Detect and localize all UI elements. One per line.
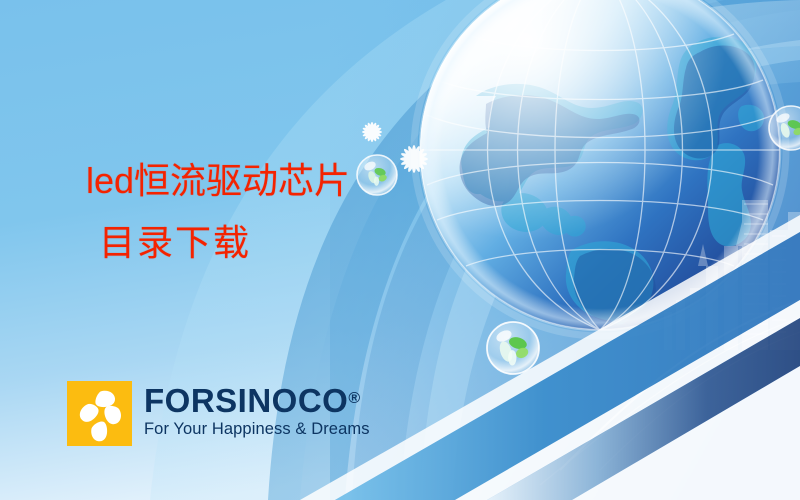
- page-title: led恒流驱动芯片 目录下载: [86, 163, 350, 261]
- four-petal-pinwheel-icon: [67, 381, 132, 446]
- headline-line-1: led恒流驱动芯片: [86, 160, 350, 201]
- banner-canvas: led恒流驱动芯片 目录下载 FORSINOCO® For Your Happi…: [0, 0, 800, 500]
- logo-company-name: FORSINOCO®: [144, 384, 370, 417]
- logo-company-name-text: FORSINOCO: [144, 382, 348, 419]
- registered-trademark-icon: ®: [348, 390, 360, 407]
- logo-wordmark: FORSINOCO® For Your Happiness & Dreams: [144, 381, 370, 439]
- company-logo[interactable]: FORSINOCO® For Your Happiness & Dreams: [67, 381, 370, 446]
- headline-line-2: 目录下载: [99, 225, 350, 261]
- logo-tagline: For Your Happiness & Dreams: [144, 420, 370, 439]
